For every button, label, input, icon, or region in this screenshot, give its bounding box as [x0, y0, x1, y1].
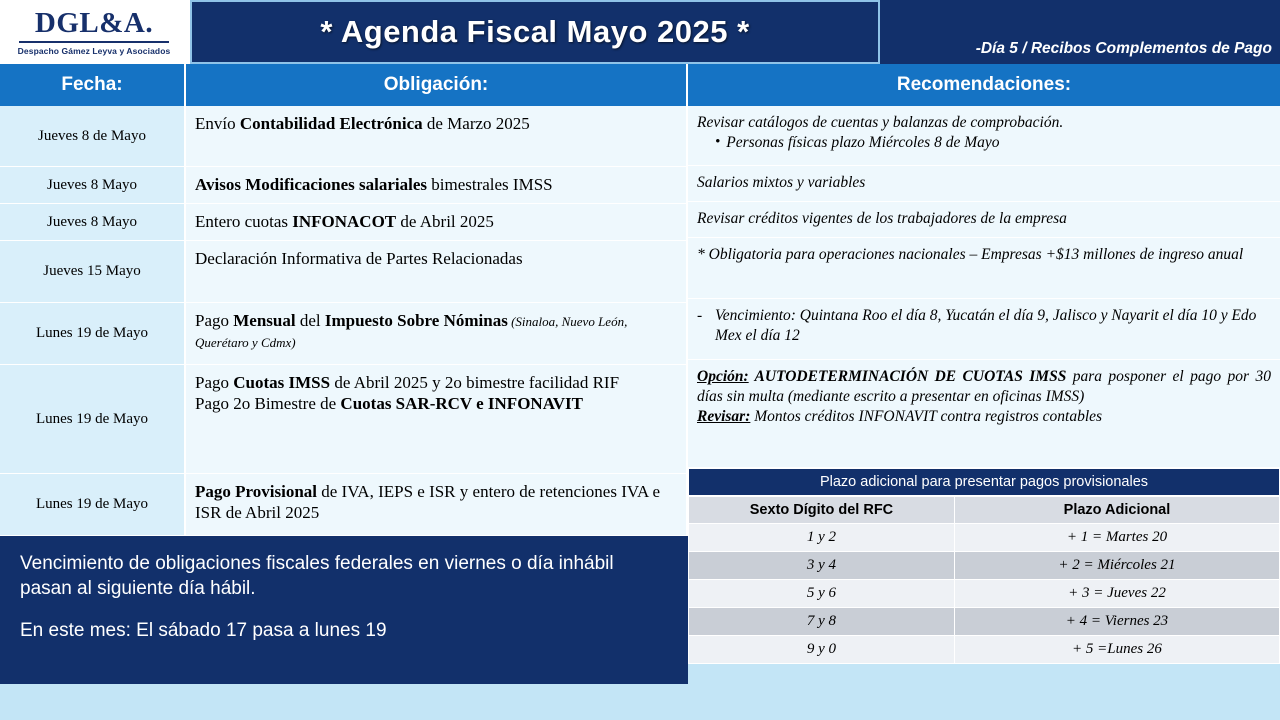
logo-divider [19, 41, 169, 43]
column-header-recomendaciones: Recomendaciones: [688, 64, 1280, 106]
agenda-fiscal-page: DGL&A. Despacho Gámez Leyva y Asociados … [0, 0, 1280, 720]
bullet-icon: • [715, 133, 720, 153]
cell-fecha: Jueves 8 de Mayo [0, 106, 186, 166]
reco-dash-item: - Vencimiento: Quintana Roo el día 8, Yu… [697, 306, 1271, 346]
right-column: Revisar catálogos de cuentas y balanzas … [688, 106, 1280, 684]
plazo-cell-plazo: + 4 = Viernes 23 [954, 608, 1279, 636]
table-column-headers: Fecha: Obligación: Recomendaciones: [0, 64, 1280, 106]
dash-icon: - [697, 306, 707, 346]
cell-obligacion: Avisos Modificaciones salariales bimestr… [186, 167, 688, 203]
page-title: * Agenda Fiscal Mayo 2025 * [320, 14, 749, 50]
reco-label-opcion: Opción: [697, 368, 749, 385]
company-logo: DGL&A. Despacho Gámez Leyva y Asociados [0, 0, 190, 64]
text: de Abril 2025 [396, 212, 494, 231]
page-header: DGL&A. Despacho Gámez Leyva y Asociados … [0, 0, 1280, 64]
cell-obligacion: Pago Cuotas IMSS de Abril 2025 y 2o bime… [186, 365, 688, 473]
text-bold: Contabilidad Electrónica [240, 114, 423, 133]
cell-fecha: Jueves 15 Mayo [0, 241, 186, 302]
cell-obligacion: Entero cuotas INFONACOT de Abril 2025 [186, 204, 688, 240]
column-header-fecha: Fecha: [0, 64, 186, 106]
plazo-row: 9 y 0 + 5 =Lunes 26 [689, 636, 1280, 664]
reco-bullet-text: Personas físicas plazo Miércoles 8 de Ma… [726, 133, 999, 153]
page-subtitle: -Día 5 / Recibos Complementos de Pago [976, 40, 1272, 58]
cell-recomendacion: Revisar créditos vigentes de los trabaja… [688, 202, 1280, 238]
cell-obligacion: Pago Mensual del Impuesto Sobre Nóminas … [186, 303, 688, 364]
plazo-cell-rfc: 5 y 6 [689, 580, 955, 608]
table-row: Lunes 19 de Mayo Pago Mensual del Impues… [0, 303, 688, 365]
plazo-header-row: Sexto Dígito del RFC Plazo Adicional [689, 497, 1280, 524]
agenda-body: Jueves 8 de Mayo Envío Contabilidad Elec… [0, 106, 1280, 684]
cell-recomendacion: - Vencimiento: Quintana Roo el día 8, Yu… [688, 299, 1280, 360]
cell-fecha: Lunes 19 de Mayo [0, 474, 186, 535]
reco-opcion: Opción: AUTODETERMINACIÓN DE CUOTAS IMSS… [697, 367, 1271, 407]
text-bold: Impuesto Sobre Nóminas [325, 311, 508, 330]
cell-obligacion: Declaración Informativa de Partes Relaci… [186, 241, 688, 302]
plazo-cell-rfc: 7 y 8 [689, 608, 955, 636]
text-bold: Mensual [233, 311, 295, 330]
oblig-line-1: Pago Cuotas IMSS de Abril 2025 y 2o bime… [195, 372, 677, 393]
plazo-row: 7 y 8 + 4 = Viernes 23 [689, 608, 1280, 636]
cell-recomendacion: * Obligatoria para operaciones nacionale… [688, 238, 1280, 299]
note-line-2: En este mes: El sábado 17 pasa a lunes 1… [20, 619, 670, 644]
logo-tagline: Despacho Gámez Leyva y Asociados [18, 46, 171, 56]
cell-recomendacion: Opción: AUTODETERMINACIÓN DE CUOTAS IMSS… [688, 360, 1280, 468]
table-row: Jueves 8 de Mayo Envío Contabilidad Elec… [0, 106, 688, 167]
plazo-row: 1 y 2 + 1 = Martes 20 [689, 524, 1280, 552]
text: del [296, 311, 325, 330]
cell-fecha: Lunes 19 de Mayo [0, 303, 186, 364]
title-banner: * Agenda Fiscal Mayo 2025 * [190, 0, 880, 64]
plazo-header-plazo: Plazo Adicional [954, 497, 1279, 524]
plazo-cell-plazo: + 1 = Martes 20 [954, 524, 1279, 552]
reco-opcion-bold: AUTODETERMINACIÓN DE CUOTAS IMSS [749, 368, 1067, 385]
text-bold: Avisos Modificaciones salariales [195, 175, 427, 194]
plazo-cell-rfc: 3 y 4 [689, 552, 955, 580]
plazo-adicional-table: Plazo adicional para presentar pagos pro… [688, 468, 1280, 664]
plazo-cell-plazo: + 2 = Miércoles 21 [954, 552, 1279, 580]
reco-label-revisar: Revisar: [697, 408, 750, 425]
reco-text: Vencimiento: Quintana Roo el día 8, Yuca… [715, 306, 1271, 346]
text: Entero cuotas [195, 212, 292, 231]
text: de Marzo 2025 [423, 114, 530, 133]
footer-note: Vencimiento de obligaciones fiscales fed… [0, 536, 688, 684]
cell-recomendacion: Salarios mixtos y variables [688, 166, 1280, 202]
plazo-row: 3 y 4 + 2 = Miércoles 21 [689, 552, 1280, 580]
plazo-grid: Sexto Dígito del RFC Plazo Adicional 1 y… [688, 496, 1280, 664]
text-bold: INFONACOT [292, 212, 396, 231]
text: Pago [195, 311, 233, 330]
plazo-cell-plazo: + 3 = Jueves 22 [954, 580, 1279, 608]
left-columns: Jueves 8 de Mayo Envío Contabilidad Elec… [0, 106, 688, 684]
oblig-line-2: Pago 2o Bimestre de Cuotas SAR-RCV e INF… [195, 393, 677, 414]
reco-bullet-item: • Personas físicas plazo Miércoles 8 de … [697, 133, 1271, 153]
reco-revisar: Revisar: Montos créditos INFONAVIT contr… [697, 407, 1271, 427]
text: de Abril 2025 y 2o bimestre facilidad RI… [330, 373, 619, 392]
table-row: Jueves 15 Mayo Declaración Informativa d… [0, 241, 688, 303]
plazo-cell-rfc: 9 y 0 [689, 636, 955, 664]
cell-fecha: Jueves 8 Mayo [0, 167, 186, 203]
column-header-obligacion: Obligación: [186, 64, 688, 106]
logo-wordmark: DGL&A. [35, 9, 153, 38]
cell-fecha: Lunes 19 de Mayo [0, 365, 186, 473]
plazo-row: 5 y 6 + 3 = Jueves 22 [689, 580, 1280, 608]
plazo-cell-plazo: + 5 =Lunes 26 [954, 636, 1279, 664]
text: Pago [195, 373, 233, 392]
plazo-header-rfc: Sexto Dígito del RFC [689, 497, 955, 524]
cell-recomendacion: Revisar catálogos de cuentas y balanzas … [688, 106, 1280, 166]
subtitle-banner: -Día 5 / Recibos Complementos de Pago [880, 0, 1280, 64]
plazo-cell-rfc: 1 y 2 [689, 524, 955, 552]
table-row: Lunes 19 de Mayo Pago Cuotas IMSS de Abr… [0, 365, 688, 474]
reco-revisar-text: Montos créditos INFONAVIT contra registr… [750, 408, 1102, 425]
cell-obligacion: Envío Contabilidad Electrónica de Marzo … [186, 106, 688, 166]
table-row: Jueves 8 Mayo Avisos Modificaciones sala… [0, 167, 688, 204]
cell-obligacion: Pago Provisional de IVA, IEPS e ISR y en… [186, 474, 688, 535]
cell-fecha: Jueves 8 Mayo [0, 204, 186, 240]
text-bold: Cuotas IMSS [233, 373, 330, 392]
text: bimestrales IMSS [427, 175, 553, 194]
plazo-table-title: Plazo adicional para presentar pagos pro… [688, 468, 1280, 496]
text-bold: Pago Provisional [195, 482, 317, 501]
text-bold: Cuotas SAR-RCV e INFONAVIT [340, 394, 583, 413]
note-line-1: Vencimiento de obligaciones fiscales fed… [20, 552, 670, 601]
text: Envío [195, 114, 240, 133]
table-row: Lunes 19 de Mayo Pago Provisional de IVA… [0, 474, 688, 536]
table-row: Jueves 8 Mayo Entero cuotas INFONACOT de… [0, 204, 688, 241]
reco-line: Revisar catálogos de cuentas y balanzas … [697, 113, 1271, 133]
text: Pago 2o Bimestre de [195, 394, 340, 413]
